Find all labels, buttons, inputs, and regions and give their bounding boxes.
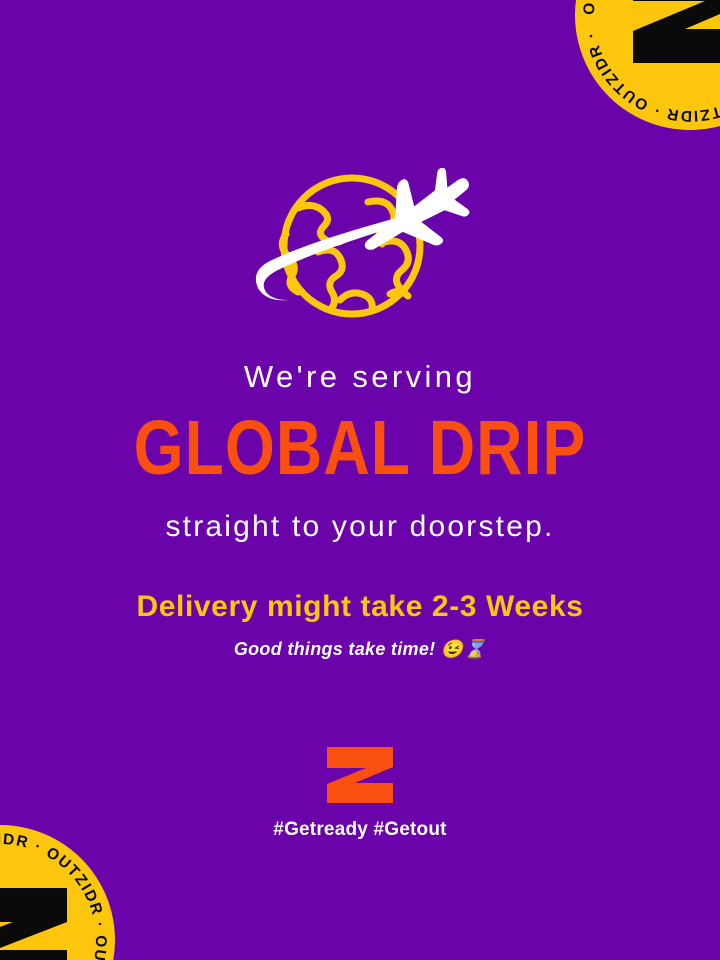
- brand-logo: [0, 745, 720, 807]
- delivery-notice-text: Delivery might take 2-3 Weeks: [0, 590, 720, 625]
- eyebrow-text: We're serving: [0, 360, 720, 394]
- stamp-core-top-right: [615, 0, 720, 71]
- poster-canvas: OUTZIDR · OUTZIDR · OUTZIDR · OUTZIDR · …: [0, 0, 720, 960]
- artwork-svg: [240, 168, 480, 344]
- footer-lockup: #Getready #Getout: [0, 745, 720, 841]
- z-logo-icon: [615, 0, 720, 71]
- globe-plane-artwork: [0, 168, 720, 344]
- headline-text: GLOBAL DRIP: [0, 408, 720, 489]
- copy-block: We're serving GLOBAL DRIP straight to yo…: [0, 360, 720, 660]
- brand-stamp-top-right: OUTZIDR · OUTZIDR · OUTZIDR · OUTZIDR · …: [575, 0, 720, 130]
- brand-stamp-bottom-left: OUTZIDR · OUTZIDR · OUTZIDR · OUTZIDR · …: [0, 825, 115, 960]
- z-logo-icon: [321, 745, 399, 807]
- stamp-core-bottom-left: OUTZIDR: [0, 884, 75, 960]
- hashtags-text: #Getready #Getout: [0, 819, 720, 841]
- subline-text: straight to your doorstep.: [0, 510, 720, 543]
- airplane-icon: [345, 168, 480, 278]
- z-logo-icon: [0, 884, 75, 960]
- reassurance-text: Good things take time! 😉⌛: [0, 639, 720, 661]
